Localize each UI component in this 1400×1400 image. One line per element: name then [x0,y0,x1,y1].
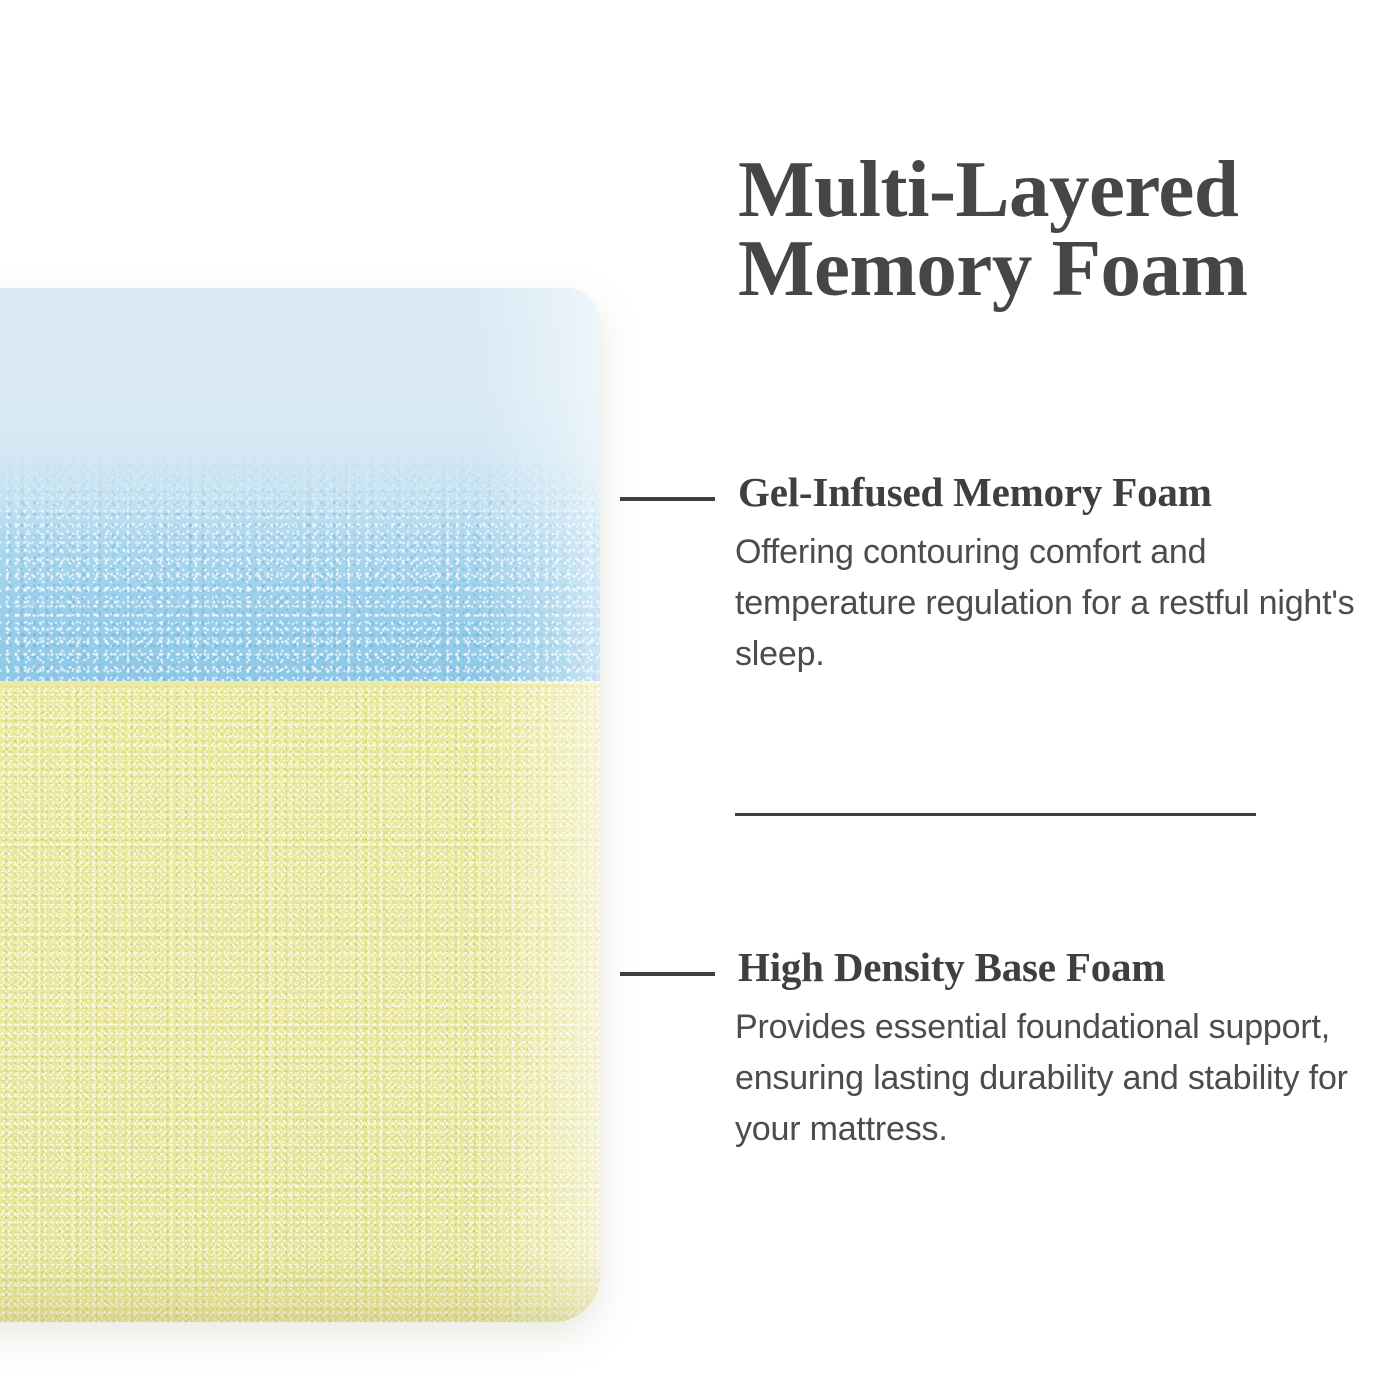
leader-dash-icon [620,972,715,976]
section-heading-gel: Gel-Infused Memory Foam [738,472,1212,513]
section-divider [735,813,1256,816]
infographic-canvas: Multi-Layered Memory Foam Gel-Infused Me… [0,0,1400,1400]
section-heading-base: High Density Base Foam [738,947,1165,988]
gel-infused-memory-foam-layer [0,288,600,682]
leader-dash-icon [620,497,715,501]
foam-texture-base [0,681,600,1322]
page-title: Multi-Layered Memory Foam [738,150,1378,309]
high-density-base-foam-layer [0,681,600,1322]
section-body-base: Provides essential foundational support,… [735,1002,1385,1155]
multi-layer-foam-block [0,288,600,1322]
section-body-gel: Offering contouring comfort and temperat… [735,527,1375,680]
content-column: Multi-Layered Memory Foam Gel-Infused Me… [620,0,1400,1400]
foam-texture-gel [0,288,600,682]
